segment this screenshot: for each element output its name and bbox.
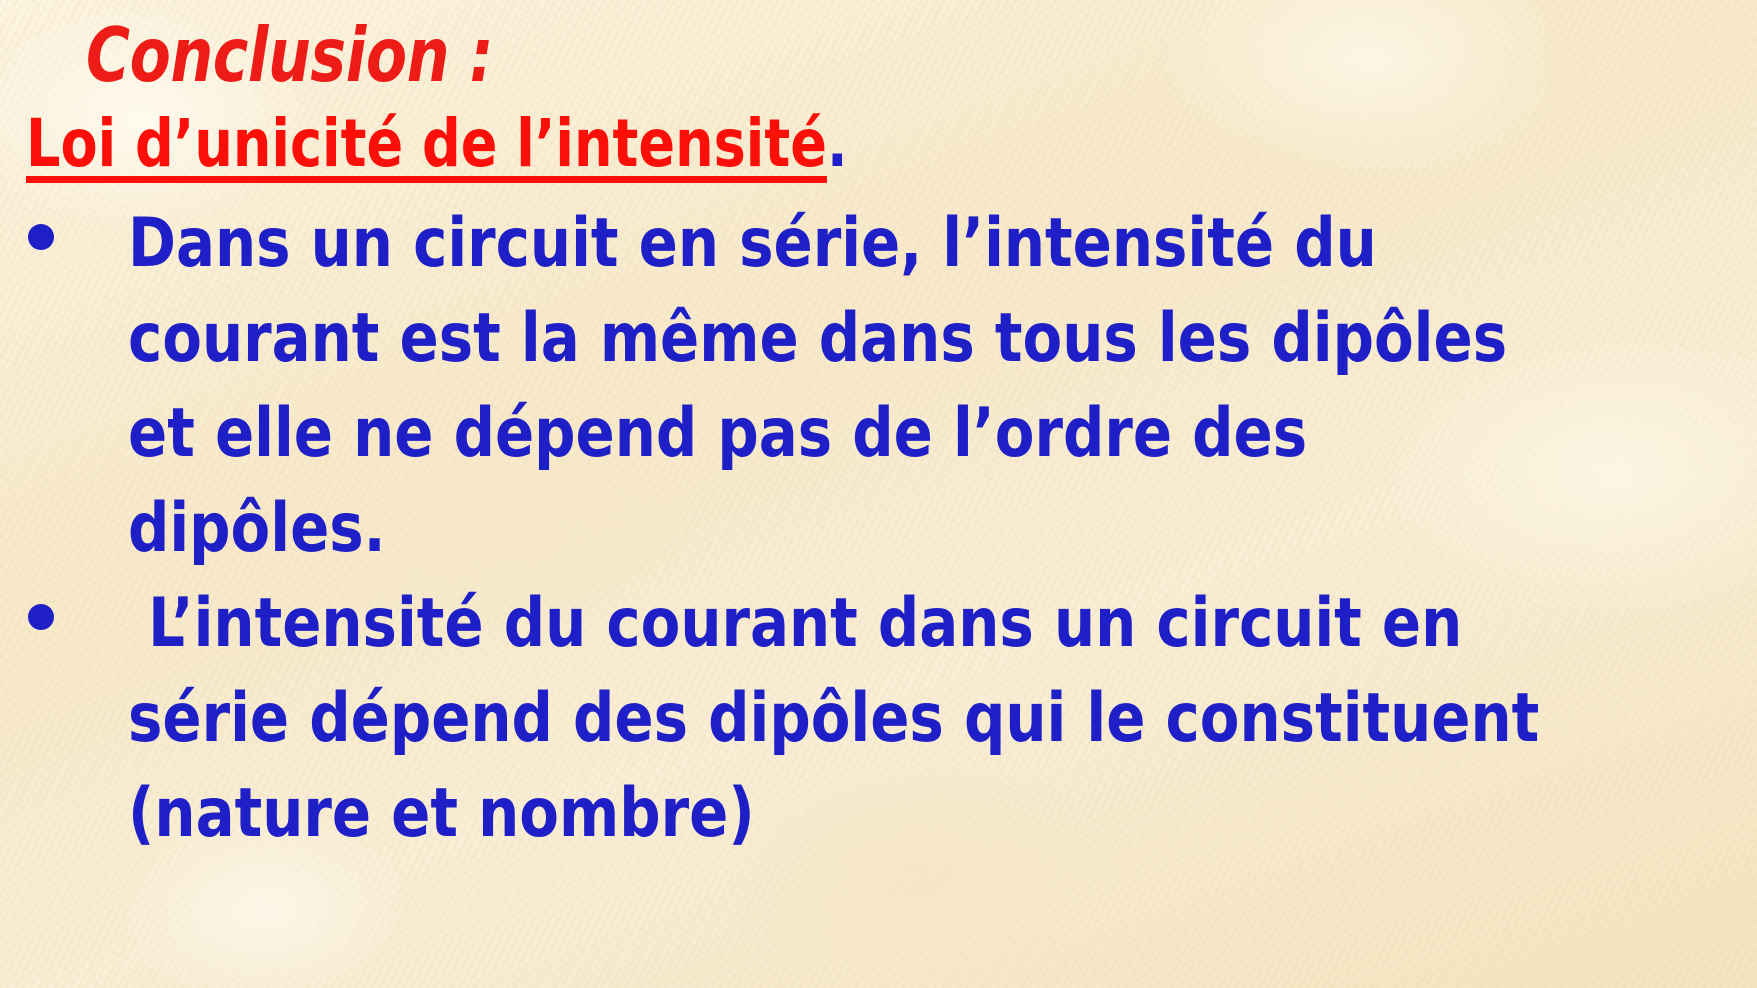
law-heading: Loi d’unicité de l’intensité. [26,104,848,184]
law-heading-period: . [827,105,848,182]
bullet-2-line-1: L’intensité du courant dans un circuit e… [128,576,1513,671]
bullet-1-line-1: Dans un circuit en série, l’intensité du [128,196,1513,291]
bullet-2-line-3: (nature et nombre) [128,766,1513,861]
list-item: Dans un circuit en série, l’intensité du… [0,196,1757,576]
bullet-list: Dans un circuit en série, l’intensité du… [0,196,1757,861]
bullet-1-lines: Dans un circuit en série, l’intensité du… [0,196,1757,576]
law-heading-row: Loi d’unicité de l’intensité. [0,104,1757,190]
title-row: Conclusion : [0,10,1757,106]
list-item: L’intensité du courant dans un circuit e… [0,576,1757,861]
slide-canvas: Conclusion : Loi d’unicité de l’intensit… [0,0,1757,988]
bullet-1-line-2: courant est la même dans tous les dipôle… [128,291,1513,386]
bullet-2-line-2: série dépend des dipôles qui le constitu… [128,671,1513,766]
bullet-2-lines: L’intensité du courant dans un circuit e… [0,576,1757,861]
law-heading-underlined-text: Loi d’unicité de l’intensité [26,105,827,182]
page-title: Conclusion : [86,10,493,100]
bullet-dot-icon [28,224,54,250]
bullet-1-line-3: et elle ne dépend pas de l’ordre des [128,386,1513,481]
bullet-dot-icon [28,604,54,630]
bullet-1-line-4: dipôles. [128,481,1513,576]
